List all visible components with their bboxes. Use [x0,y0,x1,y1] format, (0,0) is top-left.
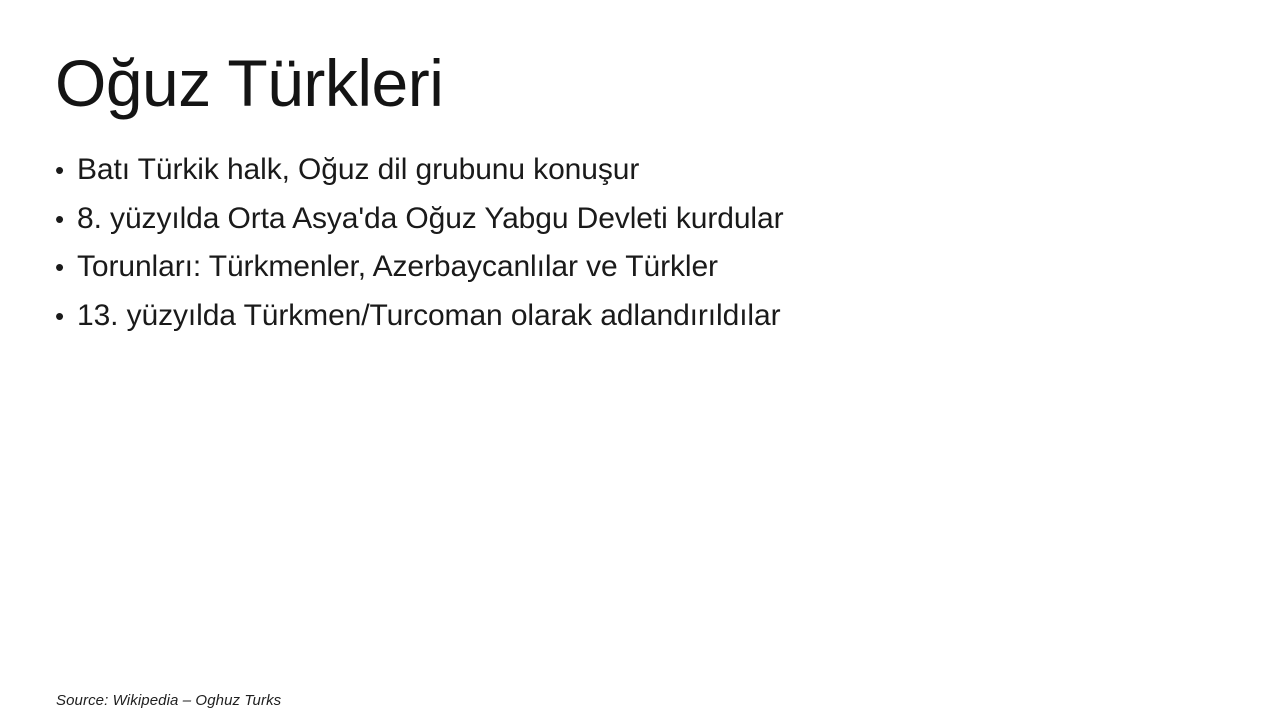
list-item-label: 8. yüzyılda Orta Asya'da Oğuz Yabgu Devl… [77,195,783,243]
list-item-label: Batı Türkik halk, Oğuz dil grubunu konuş… [77,146,639,194]
bullet-point-icon: • [55,244,77,292]
list-item-label: Torunları: Türkmenler, Azerbaycanlılar v… [77,243,718,291]
source-citation: Source: Wikipedia – Oghuz Turks [56,691,281,711]
bullet-point-icon: • [55,147,77,195]
presentation-slide: Oğuz Türkleri • Batı Türkik halk, Oğuz d… [0,0,1280,720]
list-item: • Torunları: Türkmenler, Azerbaycanlılar… [55,243,1215,292]
list-item: • 13. yüzyılda Türkmen/Turcoman olarak a… [55,292,1215,341]
bullet-list: • Batı Türkik halk, Oğuz dil grubunu kon… [55,146,1215,340]
list-item: • Batı Türkik halk, Oğuz dil grubunu kon… [55,146,1215,195]
list-item-label: 13. yüzyılda Türkmen/Turcoman olarak adl… [77,292,780,340]
bullet-point-icon: • [55,293,77,341]
page-title: Oğuz Türkleri [55,48,443,119]
bullet-point-icon: • [55,196,77,244]
list-item: • 8. yüzyılda Orta Asya'da Oğuz Yabgu De… [55,195,1215,244]
